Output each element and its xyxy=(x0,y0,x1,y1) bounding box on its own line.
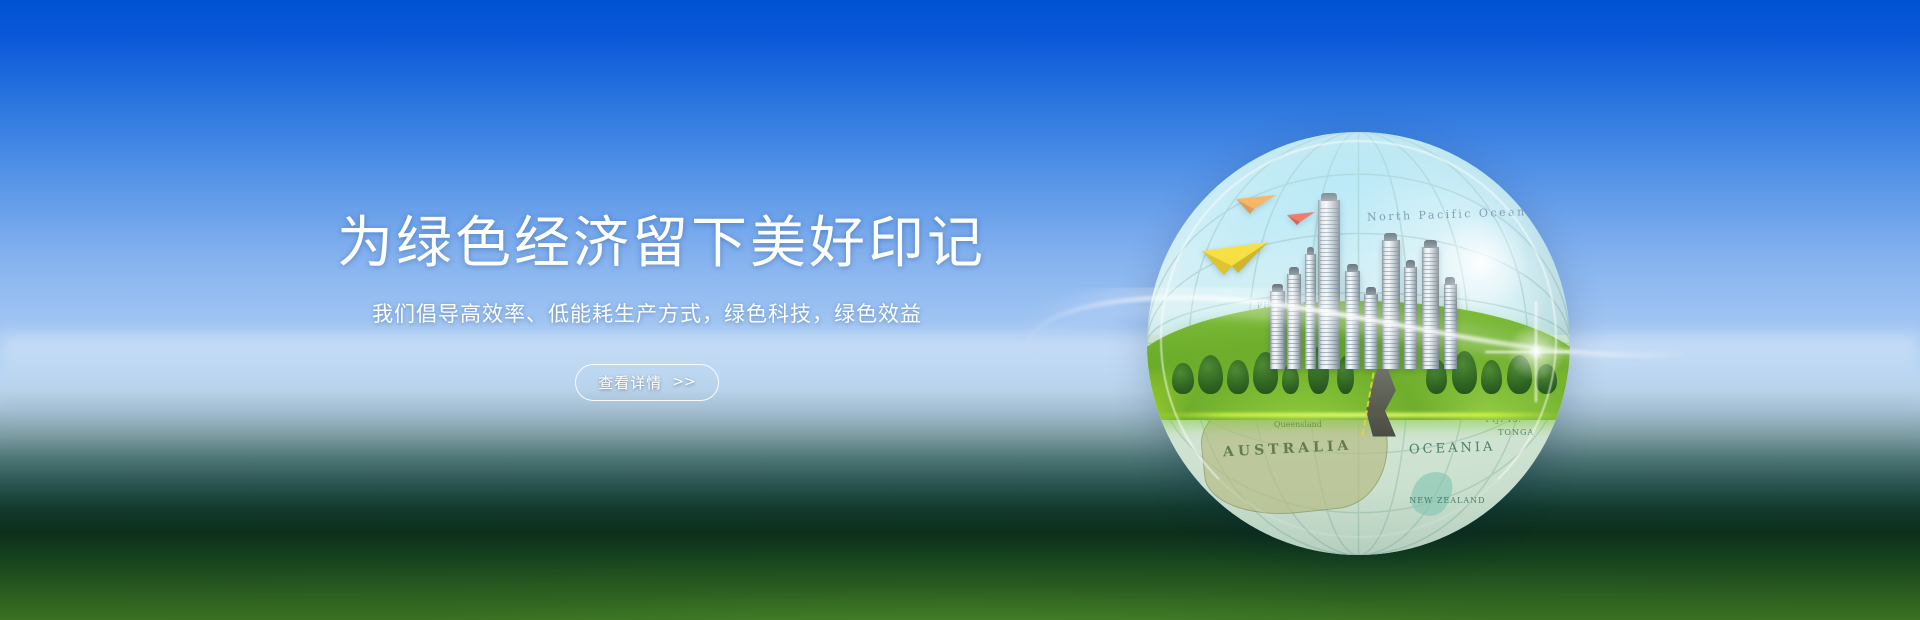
building xyxy=(1270,291,1285,369)
banner-copy: 为绿色经济留下美好印记 我们倡导高效率、低能耗生产方式，绿色科技，绿色效益 查看… xyxy=(337,215,957,401)
building xyxy=(1404,267,1417,369)
building xyxy=(1364,294,1377,368)
tree-icon xyxy=(1198,355,1223,394)
cta-wrapper: 查看详情 >> xyxy=(337,364,957,401)
background-gradient xyxy=(0,0,1920,620)
page-title: 为绿色经济留下美好印记 xyxy=(337,215,957,274)
tree-icon xyxy=(1227,360,1248,394)
building xyxy=(1287,274,1300,369)
building xyxy=(1444,284,1457,369)
tree-icon xyxy=(1507,355,1532,394)
building xyxy=(1345,271,1360,369)
hero-banner: North Pacific Ocean AUSTRALIA OCEANIA NE… xyxy=(0,0,1920,620)
tree-icon xyxy=(1536,364,1557,394)
tree-icon xyxy=(1172,363,1193,394)
building xyxy=(1422,247,1440,369)
cta-label: 查看详情 xyxy=(598,372,662,393)
building-tower xyxy=(1318,200,1340,369)
building xyxy=(1382,240,1400,369)
view-details-button[interactable]: 查看详情 >> xyxy=(575,364,718,401)
chevron-right-icon: >> xyxy=(672,374,695,390)
hill-glow-edge xyxy=(1155,413,1561,417)
building xyxy=(1305,254,1316,369)
banner-subtitle: 我们倡导高效率、低能耗生产方式，绿色科技，绿色效益 xyxy=(337,298,957,328)
globe-illustration: North Pacific Ocean AUSTRALIA OCEANIA NE… xyxy=(1147,132,1570,555)
globe-sphere: North Pacific Ocean AUSTRALIA OCEANIA NE… xyxy=(1147,132,1570,555)
tree-icon xyxy=(1282,364,1299,394)
